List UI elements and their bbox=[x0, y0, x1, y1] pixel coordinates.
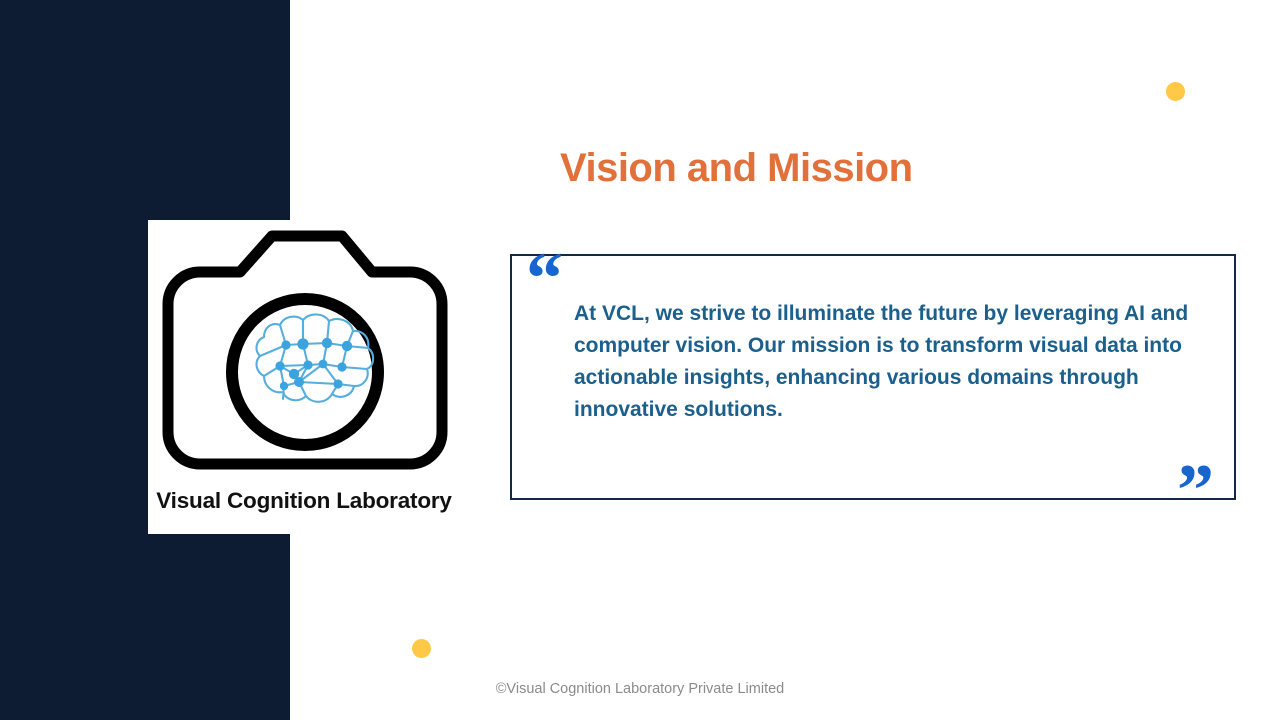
decorative-dot-bottom-left bbox=[412, 639, 431, 658]
page-title: Vision and Mission bbox=[560, 146, 913, 191]
camera-with-brain-logo bbox=[156, 226, 452, 488]
quote-open-icon: “ bbox=[526, 242, 563, 316]
quote-callout-box: “ At VCL, we strive to illuminate the fu… bbox=[510, 254, 1236, 500]
footer-copyright: ©Visual Cognition Laboratory Private Lim… bbox=[0, 681, 1280, 697]
logo-card: Visual Cognition Laboratory bbox=[148, 220, 460, 534]
quote-text: At VCL, we strive to illuminate the futu… bbox=[574, 298, 1204, 426]
quote-close-icon: ” bbox=[1177, 454, 1214, 528]
logo-wordmark: Visual Cognition Laboratory bbox=[148, 488, 460, 514]
decorative-dot-top-right bbox=[1166, 82, 1185, 101]
